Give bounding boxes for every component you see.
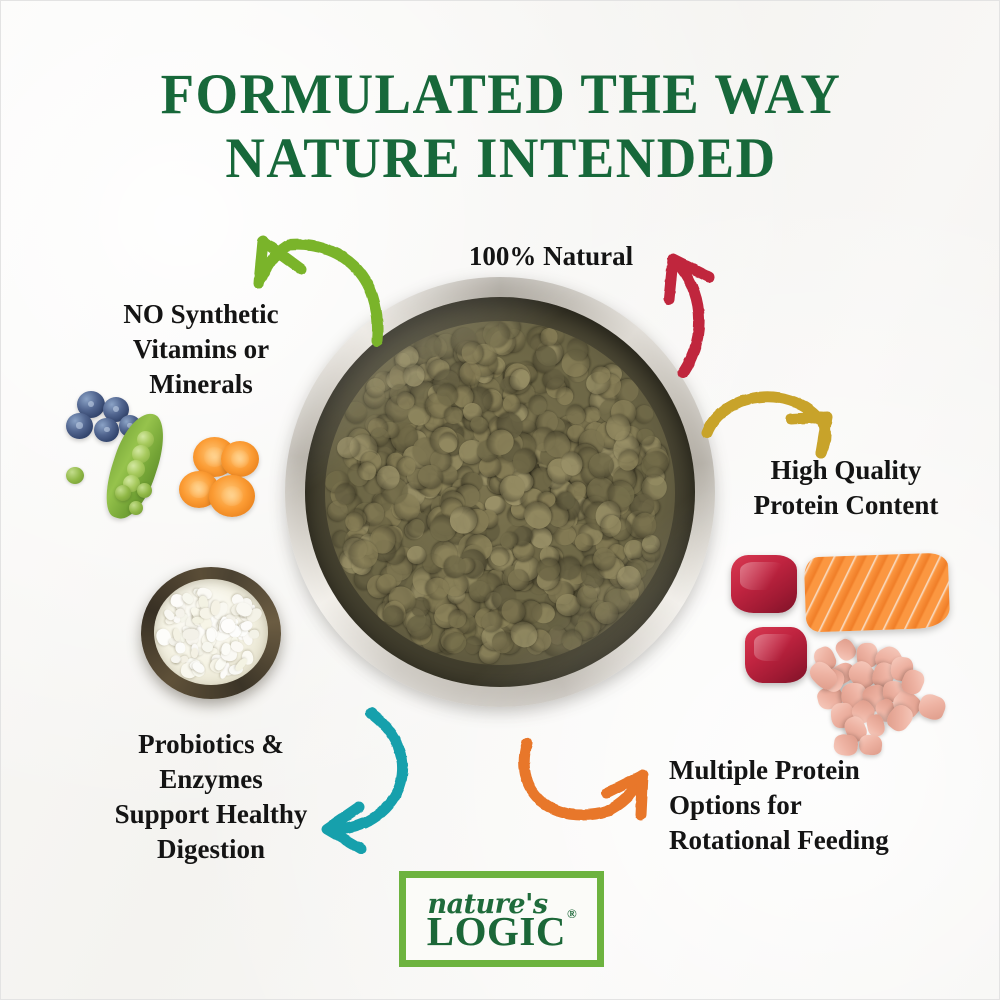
carrot-slice xyxy=(209,475,255,517)
blueberry-icon xyxy=(94,418,119,442)
callout-label-natural: 100% Natural xyxy=(381,239,721,274)
beef-cube xyxy=(745,627,807,683)
callout-label-multi-protein: Multiple Protein Options for Rotational … xyxy=(669,753,979,858)
loose-pea xyxy=(66,467,84,484)
kibble-piece xyxy=(556,387,575,406)
infographic-page: FORMULATED THE WAY NATURE INTENDED xyxy=(0,0,1000,1000)
page-title: FORMULATED THE WAY NATURE INTENDED xyxy=(21,63,981,191)
logo-logic-word: LOGIC xyxy=(427,908,566,954)
kibble-piece xyxy=(633,404,654,425)
loose-pea xyxy=(137,483,152,498)
logo-logic-text: LOGIC® xyxy=(427,911,576,952)
diced-chicken-piece xyxy=(833,636,859,663)
loose-pea xyxy=(115,485,131,501)
callout-label-no-synthetic: NO Synthetic Vitamins or Minerals xyxy=(51,297,351,402)
cottage-cheese xyxy=(154,579,268,685)
blueberry-icon xyxy=(66,413,93,439)
salmon-fillet xyxy=(804,553,951,633)
beef-cube xyxy=(731,555,797,613)
orange-curved-arrow xyxy=(524,743,643,815)
callout-label-probiotics: Probiotics & Enzymes Support Healthy Dig… xyxy=(61,727,361,867)
protein-cluster xyxy=(723,549,973,754)
loose-pea xyxy=(129,501,143,515)
callout-label-high-quality: High Quality Protein Content xyxy=(701,453,991,523)
kibble-piece xyxy=(499,475,525,502)
registered-trademark-icon: ® xyxy=(567,906,577,921)
gold-curved-arrow xyxy=(707,397,827,453)
cheese-curd xyxy=(175,641,187,654)
probiotic-cottage-cheese-bowl xyxy=(141,567,281,699)
produce-cluster xyxy=(53,389,293,529)
cheese-curd xyxy=(191,648,198,658)
cheese-curd xyxy=(249,630,260,639)
kibble-pile xyxy=(325,321,675,665)
carrot-slice xyxy=(221,441,259,477)
cheese-curd xyxy=(171,656,180,664)
diced-chicken-piece xyxy=(915,691,948,723)
brand-logo[interactable]: nature's LOGIC® xyxy=(399,871,604,967)
